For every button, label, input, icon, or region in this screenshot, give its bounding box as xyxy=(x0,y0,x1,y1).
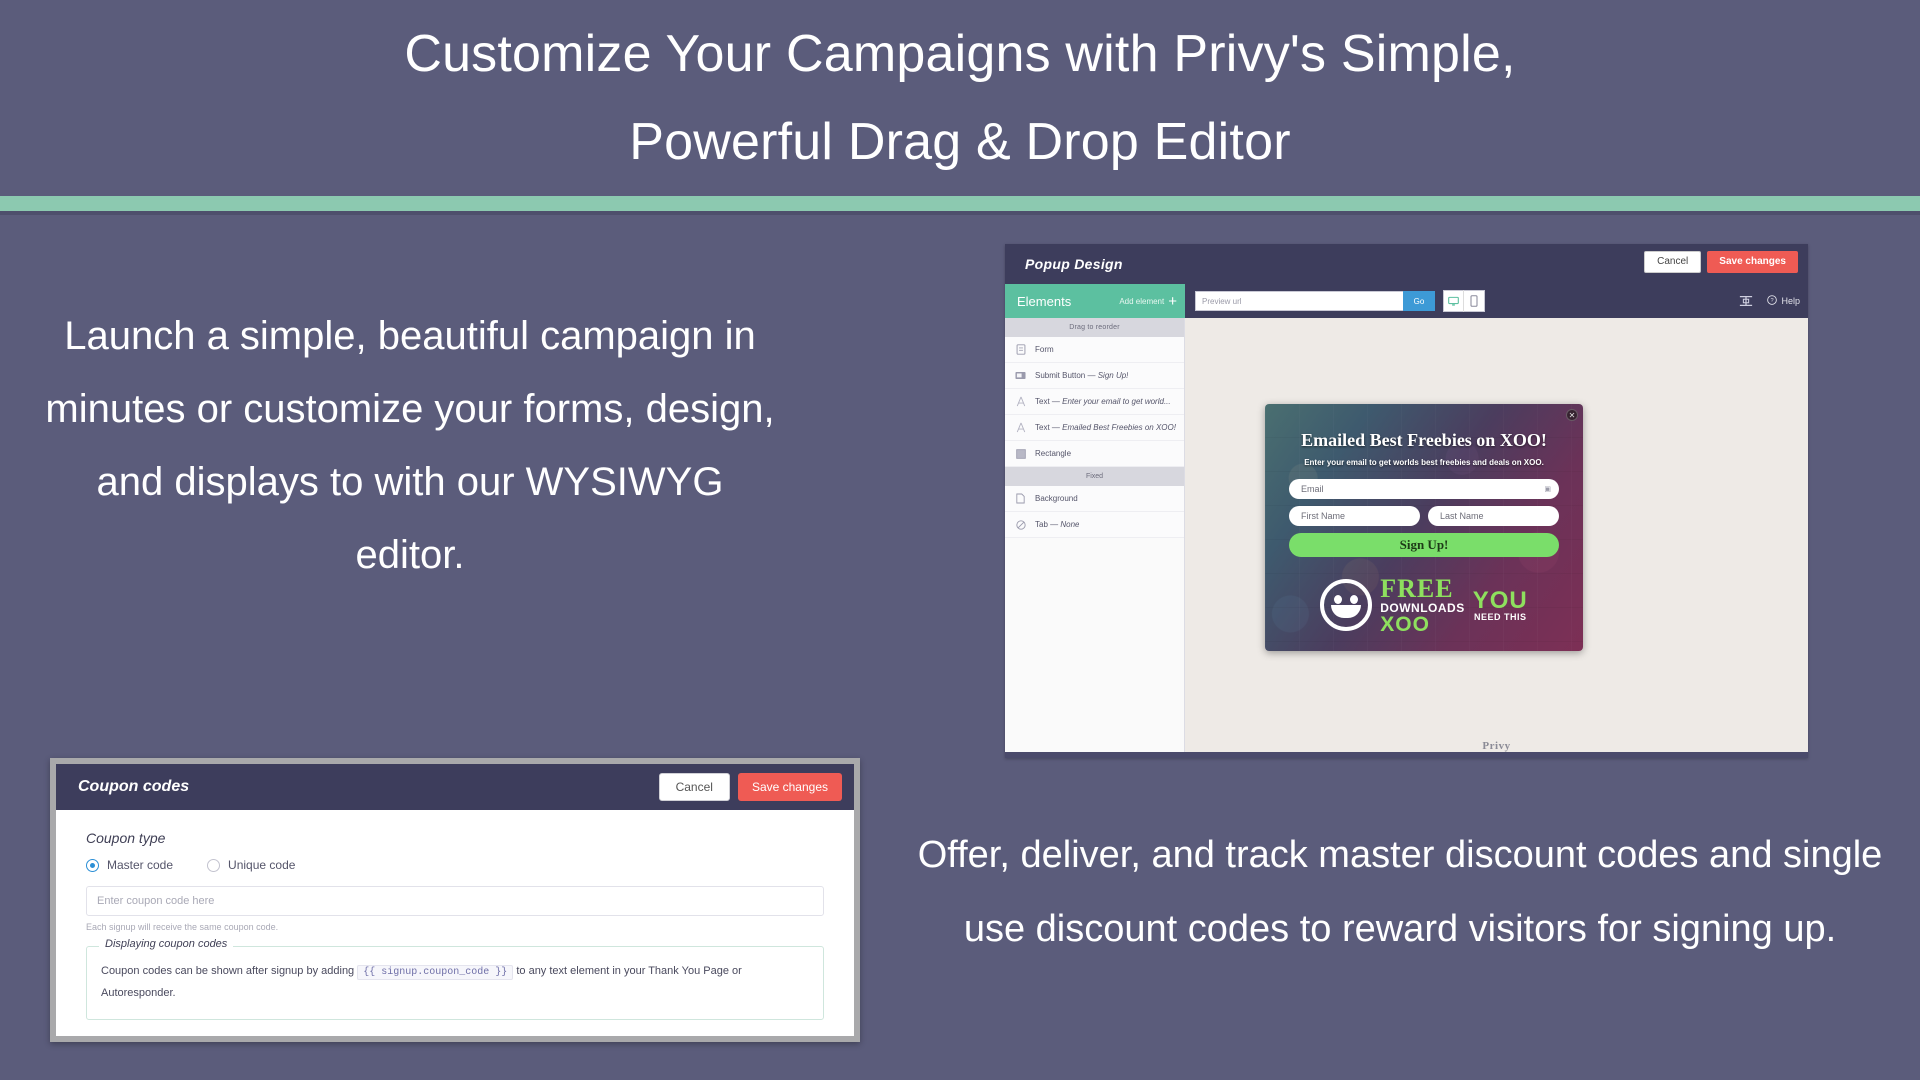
form-icon xyxy=(1015,344,1026,355)
element-list-item-label: Text — Emailed Best Freebies on XOO! xyxy=(1035,423,1176,432)
popup-content: Emailed Best Freebies on XOO! Enter your… xyxy=(1265,404,1583,557)
promo-free-downloads-text: FREE DOWNLOADS XOO xyxy=(1380,576,1465,635)
fixed-section-header: Fixed xyxy=(1005,467,1184,486)
element-list-item-label: Rectangle xyxy=(1035,449,1071,458)
popup-signup-button[interactable]: Sign Up! xyxy=(1289,533,1559,557)
coupon-type-unique-label: Unique code xyxy=(228,858,295,872)
popup-design-editor-screenshot: Popup Design Cancel Save changes Element… xyxy=(1005,244,1808,758)
elements-sidebar: Drag to reorder Form Submit Button — Sig… xyxy=(1005,318,1185,758)
editor-toolbar: Elements Add element + Preview url Go xyxy=(1005,284,1808,318)
element-list-item[interactable]: Text — Emailed Best Freebies on XOO! xyxy=(1005,415,1184,441)
editor-topbar-actions: Cancel Save changes xyxy=(1644,251,1798,273)
popup-subheading: Enter your email to get worlds best free… xyxy=(1289,458,1559,467)
popup-email-input[interactable]: Email ▣ xyxy=(1289,479,1559,499)
editor-bottom-bar xyxy=(1005,752,1808,758)
promo-you: YOU xyxy=(1473,589,1528,613)
help-label: Help xyxy=(1781,296,1800,306)
editor-cancel-button[interactable]: Cancel xyxy=(1644,251,1701,273)
fieldset-description: Coupon codes can be shown after signup b… xyxy=(101,961,809,1003)
element-list-item-label: Submit Button — Sign Up! xyxy=(1035,371,1128,380)
elements-panel-title: Elements xyxy=(1017,294,1071,309)
element-list-item-label: Background xyxy=(1035,494,1078,503)
header-divider xyxy=(0,196,1920,211)
radio-unselected-icon[interactable] xyxy=(207,859,220,872)
coupon-type-label: Coupon type xyxy=(86,830,824,846)
displaying-coupon-codes-fieldset: Displaying coupon codes Coupon codes can… xyxy=(86,946,824,1020)
coupon-type-master-label: Master code xyxy=(107,858,173,872)
align-icon[interactable] xyxy=(1739,294,1753,308)
promo-line-3: XOO xyxy=(1380,614,1465,635)
add-element-button[interactable]: Add element + xyxy=(1119,294,1177,309)
coupon-panel-body: Coupon type Master code Unique code Ente… xyxy=(56,810,854,1020)
editor-title: Popup Design xyxy=(1025,256,1123,272)
plus-icon: + xyxy=(1168,294,1177,309)
button-icon xyxy=(1015,370,1026,381)
coupon-panel-actions: Cancel Save changes xyxy=(659,773,842,801)
page-icon xyxy=(1015,493,1026,504)
email-field-badge-icon: ▣ xyxy=(1544,485,1551,493)
page-title-line-1: Customize Your Campaigns with Privy's Si… xyxy=(404,10,1515,98)
right-body-copy: Offer, deliver, and track master discoun… xyxy=(890,818,1910,966)
coupon-type-unique-option[interactable]: Unique code xyxy=(207,858,295,872)
page-title-line-2: Powerful Drag & Drop Editor xyxy=(629,98,1290,186)
popup-promo-artwork: FREE DOWNLOADS XOO YOU NEED THIS xyxy=(1265,567,1583,643)
header-divider-shadow xyxy=(0,211,1920,215)
popup-first-name-input[interactable]: First Name xyxy=(1289,506,1420,526)
coupon-code-hint: Each signup will receive the same coupon… xyxy=(86,922,824,932)
circle-slash-icon xyxy=(1015,519,1026,530)
element-list-item-label: Text — Enter your email to get world... xyxy=(1035,397,1171,406)
coupon-panel-header: Coupon codes Cancel Save changes xyxy=(56,764,854,810)
promo-line-1: FREE xyxy=(1380,576,1465,602)
device-toggle-group[interactable] xyxy=(1443,290,1485,312)
editor-canvas[interactable]: ✕ Emailed Best Freebies on XOO! Enter yo… xyxy=(1185,318,1808,758)
fieldset-text-before: Coupon codes can be shown after signup b… xyxy=(101,965,354,977)
mobile-icon[interactable] xyxy=(1464,290,1484,312)
coupon-save-changes-button[interactable]: Save changes xyxy=(738,773,842,801)
coupon-type-radio-group: Master code Unique code xyxy=(86,858,824,872)
popup-last-name-input[interactable]: Last Name xyxy=(1428,506,1559,526)
coupon-codes-screenshot: Coupon codes Cancel Save changes Coupon … xyxy=(50,758,860,1042)
coupon-panel-title: Coupon codes xyxy=(78,778,189,796)
element-list-item[interactable]: Submit Button — Sign Up! xyxy=(1005,363,1184,389)
drag-to-reorder-hint: Drag to reorder xyxy=(1005,318,1184,337)
coupon-cancel-button[interactable]: Cancel xyxy=(659,773,730,801)
help-button[interactable]: ? Help xyxy=(1767,295,1800,307)
page-header: Customize Your Campaigns with Privy's Si… xyxy=(0,0,1920,196)
coupon-code-input[interactable]: Enter coupon code here xyxy=(86,886,824,916)
rectangle-icon xyxy=(1015,448,1026,459)
promo-you-need-this-text: YOU NEED THIS xyxy=(1473,589,1528,622)
popup-name-row: First Name Last Name xyxy=(1289,506,1559,533)
preview-url-input[interactable]: Preview url xyxy=(1196,297,1403,306)
element-list-item[interactable]: Tab — None xyxy=(1005,512,1184,538)
popup-email-placeholder: Email xyxy=(1301,484,1324,494)
text-icon xyxy=(1015,422,1026,433)
element-list-item-label: Tab — None xyxy=(1035,520,1079,529)
privy-logo: Privy xyxy=(1185,740,1808,752)
help-icon: ? xyxy=(1767,295,1777,307)
coupon-code-token: {{ signup.coupon_code }} xyxy=(357,965,513,980)
preview-go-button[interactable]: Go xyxy=(1403,291,1435,311)
desktop-icon[interactable] xyxy=(1444,290,1464,312)
editor-save-changes-button[interactable]: Save changes xyxy=(1707,251,1798,273)
editor-body: Drag to reorder Form Submit Button — Sig… xyxy=(1005,318,1808,758)
element-list-item[interactable]: Rectangle xyxy=(1005,441,1184,467)
preview-url-group: Preview url Go xyxy=(1195,291,1435,311)
elements-panel-header: Elements Add element + xyxy=(1005,284,1185,318)
smiley-face-icon xyxy=(1320,579,1372,631)
coupon-type-master-option[interactable]: Master code xyxy=(86,858,173,872)
svg-text:?: ? xyxy=(1771,298,1774,304)
promo-line-2: DOWNLOADS xyxy=(1380,602,1465,614)
editor-toolbar-right: ? Help xyxy=(1739,294,1800,308)
popup-heading: Emailed Best Freebies on XOO! xyxy=(1289,430,1559,451)
element-list-item[interactable]: Text — Enter your email to get world... xyxy=(1005,389,1184,415)
element-list-item[interactable]: Form xyxy=(1005,337,1184,363)
fieldset-legend: Displaying coupon codes xyxy=(99,938,233,950)
popup-preview[interactable]: ✕ Emailed Best Freebies on XOO! Enter yo… xyxy=(1265,404,1583,651)
text-icon xyxy=(1015,396,1026,407)
element-list-item[interactable]: Background xyxy=(1005,486,1184,512)
slide-root: Customize Your Campaigns with Privy's Si… xyxy=(0,0,1920,1080)
left-body-copy: Launch a simple, beautiful campaign in m… xyxy=(40,300,780,592)
promo-need-this: NEED THIS xyxy=(1473,613,1528,622)
radio-selected-icon[interactable] xyxy=(86,859,99,872)
add-element-label: Add element xyxy=(1119,297,1164,306)
element-list-item-label: Form xyxy=(1035,345,1054,354)
editor-topbar: Popup Design Cancel Save changes xyxy=(1005,244,1808,284)
close-icon[interactable]: ✕ xyxy=(1566,409,1578,421)
